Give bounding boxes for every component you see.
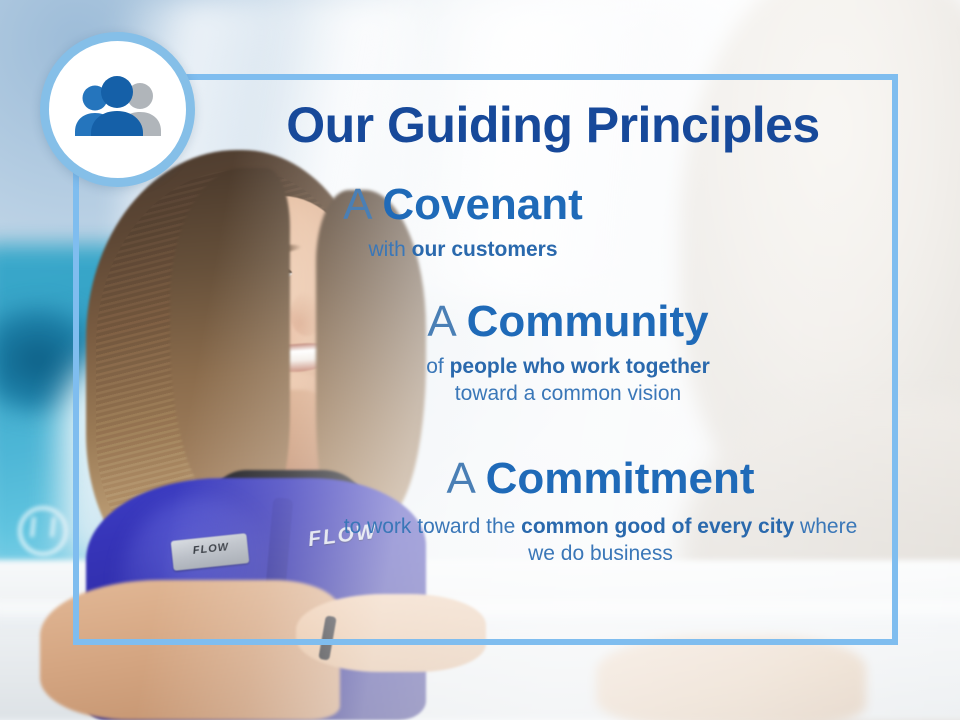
principle-heading: A Community [283,299,853,346]
principle-lead: A [427,297,466,346]
principle-subtext: to work toward the common good of every … [323,513,878,568]
subtext-bold: common good of every city [521,515,794,538]
customer-hand [596,636,866,720]
principle-subtext: of people who work together toward a com… [283,353,853,408]
guiding-principles-banner: FLOW FLOW Our Guiding Principles A Coven… [0,0,960,720]
subtext-line-1: of people who work together [283,353,853,380]
principle-lead: A [343,180,382,229]
subtext-line-2: toward a common vision [283,380,853,407]
subtext-bold: people who work together [450,355,710,378]
people-group-icon [66,74,170,146]
principle-subtext: with our customers [253,236,673,263]
principle-keyword: Commitment [486,454,755,503]
principle-community: A Community of people who work together … [283,299,853,407]
subtext-line-2: we do business [323,540,878,567]
page-title: Our Guiding Principles [223,96,883,154]
subtext-pre: to work toward the [344,515,521,538]
subtext-post: where [794,515,857,538]
principle-commitment: A Commitment to work toward the common g… [323,456,878,567]
principle-keyword: Community [467,297,709,346]
principle-keyword: Covenant [382,180,582,229]
subtext-bold: our customers [412,238,558,261]
subtext-pre: with [368,238,411,261]
principle-heading: A Covenant [253,182,673,229]
principle-lead: A [446,454,485,503]
subtext-line-1: to work toward the common good of every … [323,513,878,540]
principle-covenant: A Covenant with our customers [253,182,673,263]
principle-heading: A Commitment [323,456,878,503]
subtext-pre: of [426,355,449,378]
content-area: Our Guiding Principles A Covenant with o… [73,74,898,645]
people-group-badge [40,32,195,187]
